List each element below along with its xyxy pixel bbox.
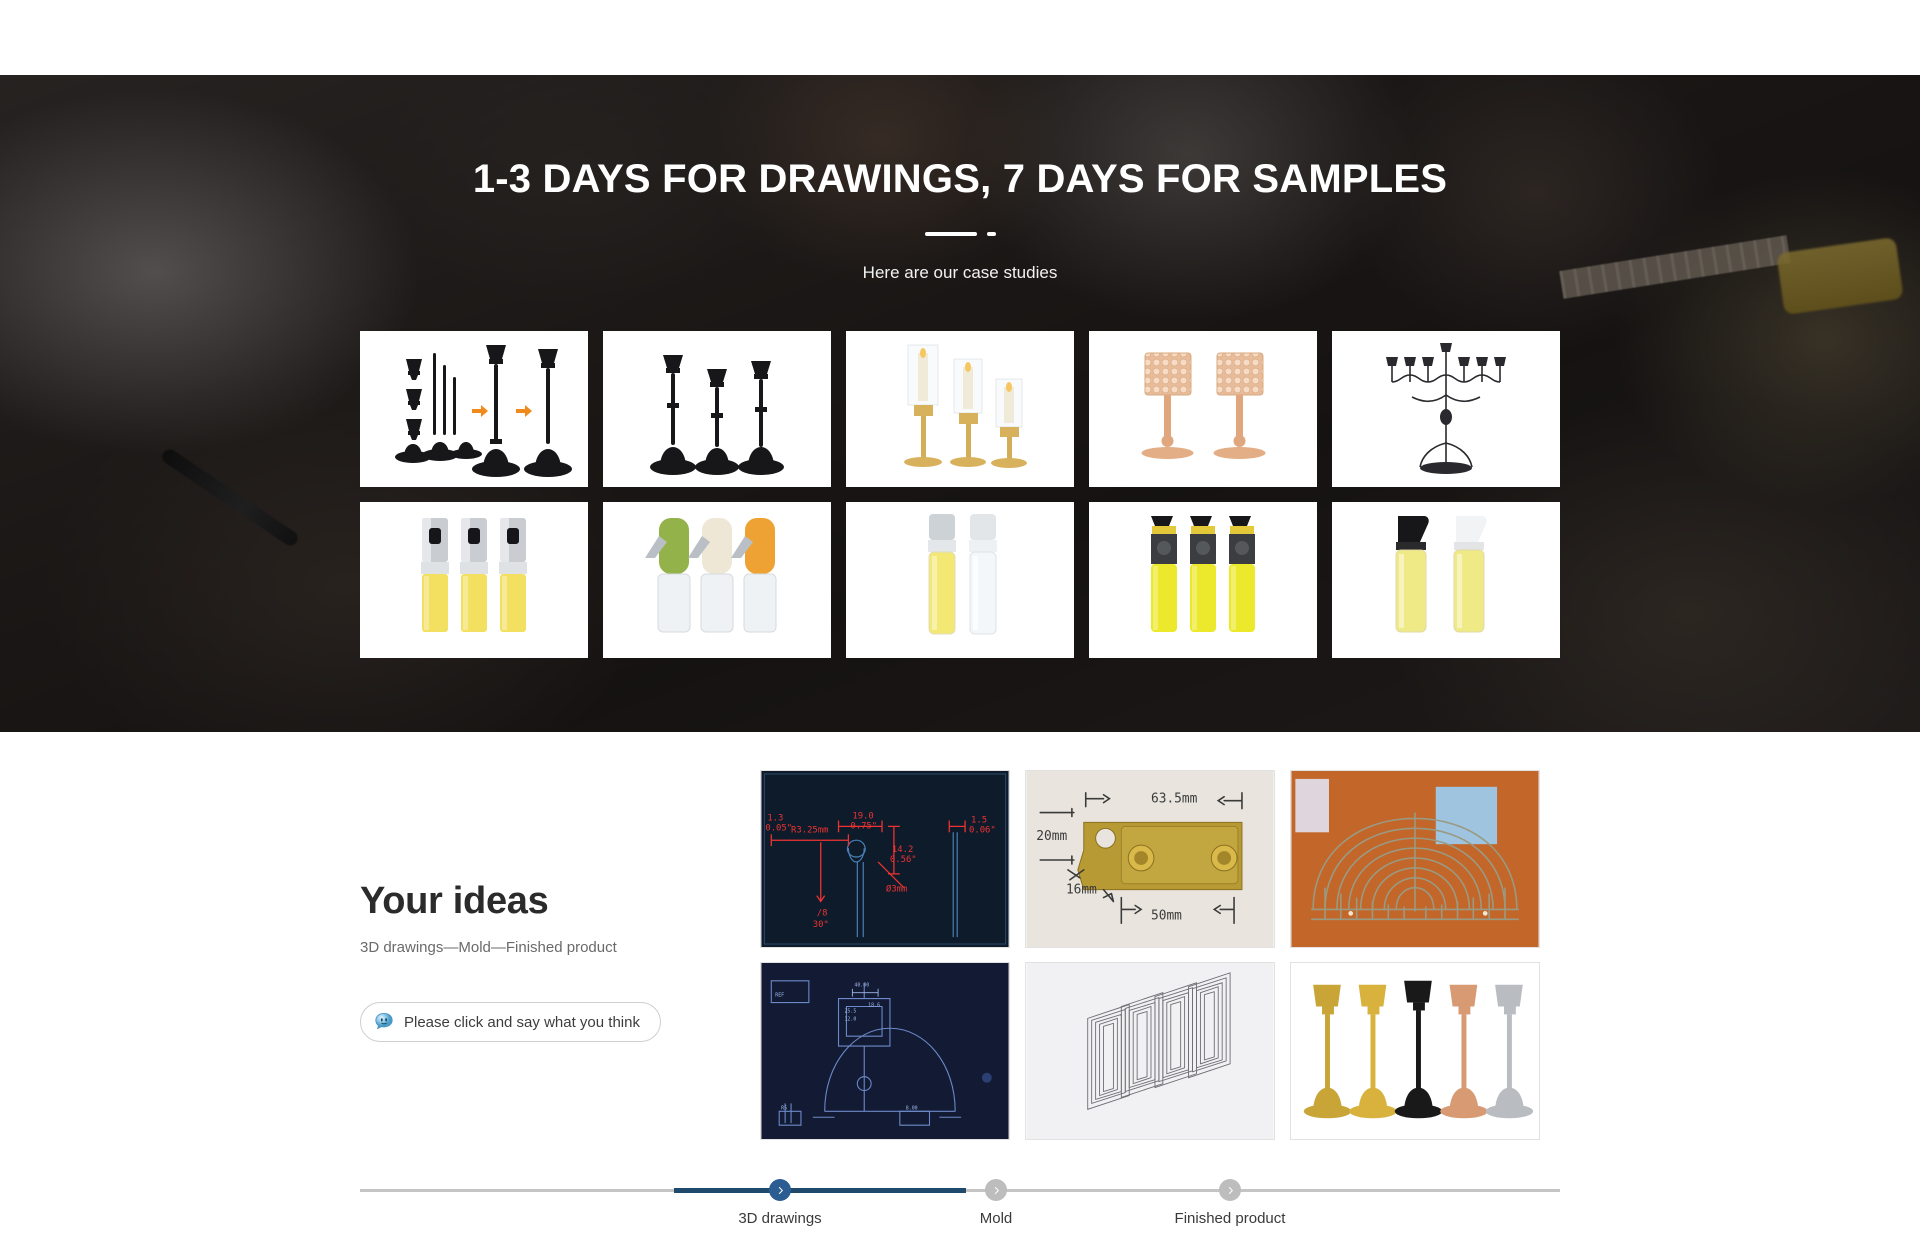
- stepper-node-finished-product[interactable]: [1219, 1179, 1241, 1201]
- svg-text:REF: REF: [775, 993, 784, 999]
- case-study-black-pump-oil-dispensers[interactable]: [1089, 502, 1317, 658]
- nine-branch-candelabra-icon: [1332, 331, 1560, 487]
- svg-text:Ø3mm: Ø3mm: [886, 884, 907, 895]
- stepper-track: [360, 1179, 1560, 1201]
- gold-hurricane-candlesticks-icon: [846, 331, 1074, 487]
- feedback-button[interactable]: Please click and say what you think: [360, 1002, 661, 1042]
- stepper-node-3d-drawings[interactable]: [769, 1179, 791, 1201]
- hand-drawn-bracket-icon: 63.5mm 20mm 16mm 50mm: [1026, 771, 1274, 947]
- stepper-track-active: [674, 1188, 966, 1193]
- wireframe-panel-render-icon: [1026, 963, 1274, 1139]
- chat-bubble-icon: [373, 1011, 395, 1033]
- hero-title: 1-3 DAYS FOR DRAWINGS, 7 DAYS FOR SAMPLE…: [0, 157, 1920, 202]
- svg-text:0.06": 0.06": [969, 825, 996, 835]
- feedback-button-label: Please click and say what you think: [404, 1014, 640, 1031]
- idea-wireframe-panel-render[interactable]: [1025, 962, 1275, 1140]
- svg-text:19.0: 19.0: [852, 811, 873, 821]
- svg-text:14.2: 14.2: [892, 845, 913, 855]
- svg-text:R5: R5: [781, 1105, 787, 1111]
- ideas-subheading: 3D drawings—Mold—Finished product: [360, 939, 740, 956]
- idea-wire-dome-prototype-orange[interactable]: [1290, 770, 1540, 948]
- colored-trigger-oil-sprayers-icon: [603, 502, 831, 658]
- cad-blue-drawing-icon: 40.00 25.512.0 18.6 R5 8.00 REF: [761, 963, 1009, 1139]
- rose-gold-crystal-holders-icon: [1089, 331, 1317, 487]
- wire-dome-prototype-icon: [1291, 771, 1539, 947]
- svg-text:63.5mm: 63.5mm: [1151, 792, 1198, 807]
- svg-text:0.75": 0.75": [850, 821, 877, 831]
- ideas-gallery: 1.30.05" R3.25mm 19.00.75" 14.20.56" 1.5…: [760, 770, 1540, 1140]
- case-study-glass-mist-spray-bottles[interactable]: [846, 502, 1074, 658]
- svg-text:0.56": 0.56": [890, 855, 917, 865]
- svg-text:1.3: 1.3: [767, 813, 783, 823]
- case-study-black-candlestick-parts-exploded[interactable]: [360, 331, 588, 487]
- svg-text:1.5: 1.5: [971, 815, 987, 825]
- idea-hand-drawn-bracket-dimensions[interactable]: 63.5mm 20mm 16mm 50mm: [1025, 770, 1275, 948]
- stepper-labels: 3D drawings Mold Finished product: [360, 1210, 1560, 1232]
- cad-red-drawing-icon: 1.30.05" R3.25mm 19.00.75" 14.20.56" 1.5…: [761, 771, 1009, 947]
- page-top-spacer: [0, 0, 1920, 75]
- ideas-copy-column: Your ideas 3D drawings—Mold—Finished pro…: [360, 770, 740, 1140]
- svg-text:20mm: 20mm: [1036, 829, 1067, 844]
- svg-text:25.5: 25.5: [844, 1008, 856, 1014]
- hero-divider: [0, 232, 1920, 236]
- your-ideas-section: Your ideas 3D drawings—Mold—Finished pro…: [0, 732, 1920, 1254]
- chevron-right-icon: [992, 1186, 1001, 1195]
- ideas-heading: Your ideas: [360, 880, 740, 923]
- stepper-label-finished-product[interactable]: Finished product: [1175, 1210, 1286, 1227]
- case-study-nine-branch-candelabra[interactable]: [1332, 331, 1560, 487]
- silver-cap-oil-sprayers-icon: [360, 502, 588, 658]
- idea-cad-assembly-drawing-blue[interactable]: 40.00 25.512.0 18.6 R5 8.00 REF: [760, 962, 1010, 1140]
- idea-cad-dimension-drawing-red[interactable]: 1.30.05" R3.25mm 19.00.75" 14.20.56" 1.5…: [760, 770, 1010, 948]
- case-study-continuous-mist-sprayers[interactable]: [1332, 502, 1560, 658]
- case-study-rose-gold-crystal-candle-holders[interactable]: [1089, 331, 1317, 487]
- svg-text:30°: 30°: [813, 920, 829, 930]
- idea-finished-candlesticks-five-finishes[interactable]: [1290, 962, 1540, 1140]
- svg-text:18.6: 18.6: [868, 1003, 880, 1009]
- svg-text:50mm: 50mm: [1151, 908, 1182, 923]
- case-study-gold-hurricane-candlesticks[interactable]: [846, 331, 1074, 487]
- svg-text:8.00: 8.00: [906, 1105, 918, 1111]
- divider-long-dash: [925, 232, 977, 236]
- svg-text:40.00: 40.00: [854, 983, 869, 989]
- hero-subtitle: Here are our case studies: [0, 263, 1920, 283]
- black-pump-oil-dispensers-icon: [1089, 502, 1317, 658]
- black-candlestick-parts-icon: [360, 331, 588, 487]
- stepper-node-mold[interactable]: [985, 1179, 1007, 1201]
- svg-text:/8: /8: [817, 908, 828, 918]
- stepper-label-mold[interactable]: Mold: [980, 1210, 1013, 1227]
- svg-text:12.0: 12.0: [844, 1016, 856, 1022]
- svg-text:0.05": 0.05": [765, 823, 792, 833]
- hero-section: 1-3 DAYS FOR DRAWINGS, 7 DAYS FOR SAMPLE…: [0, 75, 1920, 732]
- black-candlestick-trio-icon: [603, 331, 831, 487]
- continuous-mist-sprayers-icon: [1332, 502, 1560, 658]
- stepper-label-3d-drawings[interactable]: 3D drawings: [738, 1210, 821, 1227]
- case-study-silver-cap-oil-sprayers[interactable]: [360, 502, 588, 658]
- divider-short-dash: [987, 232, 996, 236]
- svg-text:16mm: 16mm: [1066, 883, 1097, 898]
- glass-mist-spray-bottles-icon: [846, 502, 1074, 658]
- process-stepper: 3D drawings Mold Finished product: [360, 1179, 1560, 1232]
- case-study-black-candlestick-trio[interactable]: [603, 331, 831, 487]
- finished-candlesticks-icon: [1291, 963, 1539, 1139]
- chevron-right-icon: [1226, 1186, 1235, 1195]
- chevron-right-icon: [776, 1186, 785, 1195]
- case-study-colored-trigger-oil-sprayers[interactable]: [603, 502, 831, 658]
- case-studies-grid: [360, 331, 1560, 658]
- svg-text:R3.25mm: R3.25mm: [791, 825, 828, 835]
